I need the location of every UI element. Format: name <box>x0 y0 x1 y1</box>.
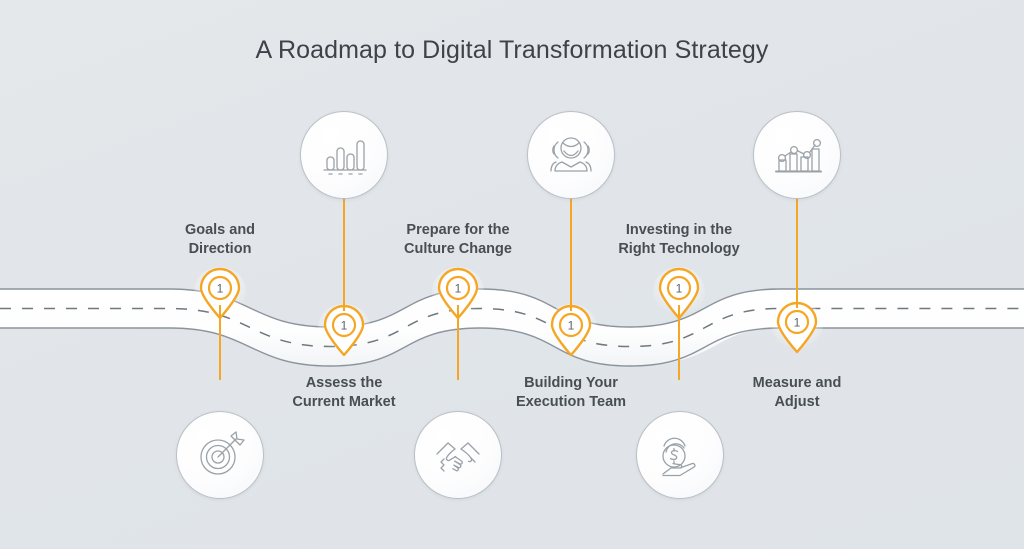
step-label-goals-and-direction: Goals and Direction <box>115 221 325 259</box>
step-label-assess-the-current-market: Assess the Current Market <box>239 374 449 412</box>
pin-number: 1 <box>568 319 575 333</box>
icon-circle-investing-in-the-right-technology[interactable] <box>636 411 724 499</box>
pin-number: 1 <box>794 316 801 330</box>
pin-number: 1 <box>676 282 683 296</box>
step-label-building-your-execution-team: Building Your Execution Team <box>466 374 676 412</box>
road-graphic: 1 1 1 1 1 <box>0 0 1024 549</box>
connector-stem-investing-in-the-right-technology <box>678 305 680 380</box>
bar-chart-icon <box>319 130 369 180</box>
team-people-icon <box>545 129 597 181</box>
connector-stem-assess-the-current-market <box>343 196 345 311</box>
target-arrow-icon <box>194 429 246 481</box>
connector-stem-measure-and-adjust <box>796 196 798 308</box>
connector-stem-goals-and-direction <box>219 305 221 380</box>
connector-stem-prepare-for-the-culture-change <box>457 305 459 380</box>
icon-circle-measure-and-adjust[interactable] <box>753 111 841 199</box>
step-label-investing-in-the-right-technology: Investing in the Right Technology <box>574 221 784 259</box>
connector-stem-building-your-execution-team <box>570 196 572 311</box>
roadmap-infographic: A Roadmap to Digital Transformation Stra… <box>0 0 1024 549</box>
icon-circle-goals-and-direction[interactable] <box>176 411 264 499</box>
map-pin-measure-and-adjust[interactable]: 1 <box>771 301 823 352</box>
hand-holding-money-icon <box>653 428 707 482</box>
pin-number: 1 <box>455 282 462 296</box>
handshake-icon <box>431 428 485 482</box>
icon-circle-assess-the-current-market[interactable] <box>300 111 388 199</box>
growth-analytics-icon <box>771 129 823 181</box>
icon-circle-prepare-for-the-culture-change[interactable] <box>414 411 502 499</box>
step-label-measure-and-adjust: Measure and Adjust <box>692 374 902 412</box>
pin-number: 1 <box>217 282 224 296</box>
icon-circle-building-your-execution-team[interactable] <box>527 111 615 199</box>
pin-number: 1 <box>341 319 348 333</box>
step-label-prepare-for-the-culture-change: Prepare for the Culture Change <box>353 221 563 259</box>
road-band <box>0 289 1024 366</box>
